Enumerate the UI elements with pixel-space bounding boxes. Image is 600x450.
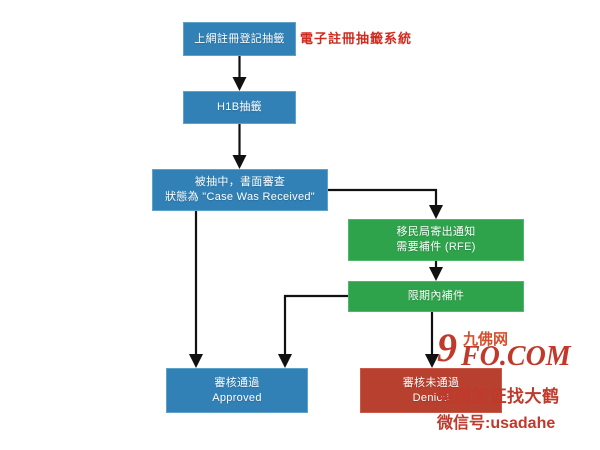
node-h1b-lottery[interactable]: H1B抽籤 [183, 91, 296, 124]
node-approved-line1: 審核通過 [214, 376, 259, 391]
node-rfe-notice[interactable]: 移民局寄出通知 需要補件 (RFE) [348, 219, 524, 261]
node-online-registration[interactable]: 上網註冊登記抽籤 [183, 22, 296, 56]
watermark-domain: FO.COM [461, 343, 571, 371]
node-case-was-received-line1: 被抽中，書面審查 [195, 175, 285, 190]
node-h1b-lottery-label: H1B抽籤 [217, 100, 262, 115]
watermark-tagline: 美国签证找大鹤 [437, 382, 600, 407]
flowchart-canvas: 上網註冊登記抽籤 H1B抽籤 被抽中，書面審查 狀態為 "Case Was Re… [0, 0, 600, 450]
watermark-wechat-id: 微信号:usadahe [437, 409, 600, 433]
node-approved-line2: Approved [212, 391, 262, 406]
node-rfe-notice-line1: 移民局寄出通知 [396, 225, 475, 240]
node-rfe-notice-line2: 需要補件 (RFE) [396, 240, 475, 255]
node-case-was-received-line2: 狀態為 "Case Was Received" [165, 190, 315, 205]
diagram-title: 電子註冊抽籤系統 [300, 28, 412, 47]
node-respond-within-deadline[interactable]: 限期內補件 [348, 281, 524, 312]
node-respond-within-deadline-label: 限期內補件 [408, 289, 465, 304]
watermark-logo: 9 九佛网 FO.COM [437, 330, 600, 370]
watermark: 9 九佛网 FO.COM 美国签证找大鹤 微信号:usadahe [437, 330, 600, 433]
node-approved[interactable]: 審核通過 Approved [166, 368, 308, 413]
node-online-registration-label: 上網註冊登記抽籤 [194, 32, 284, 47]
edge-selected-to-rfe [328, 190, 436, 212]
node-case-was-received[interactable]: 被抽中，書面審查 狀態為 "Case Was Received" [152, 169, 328, 211]
edge-respond-to-approved [285, 296, 348, 361]
watermark-nine-glyph: 9 [437, 328, 457, 368]
